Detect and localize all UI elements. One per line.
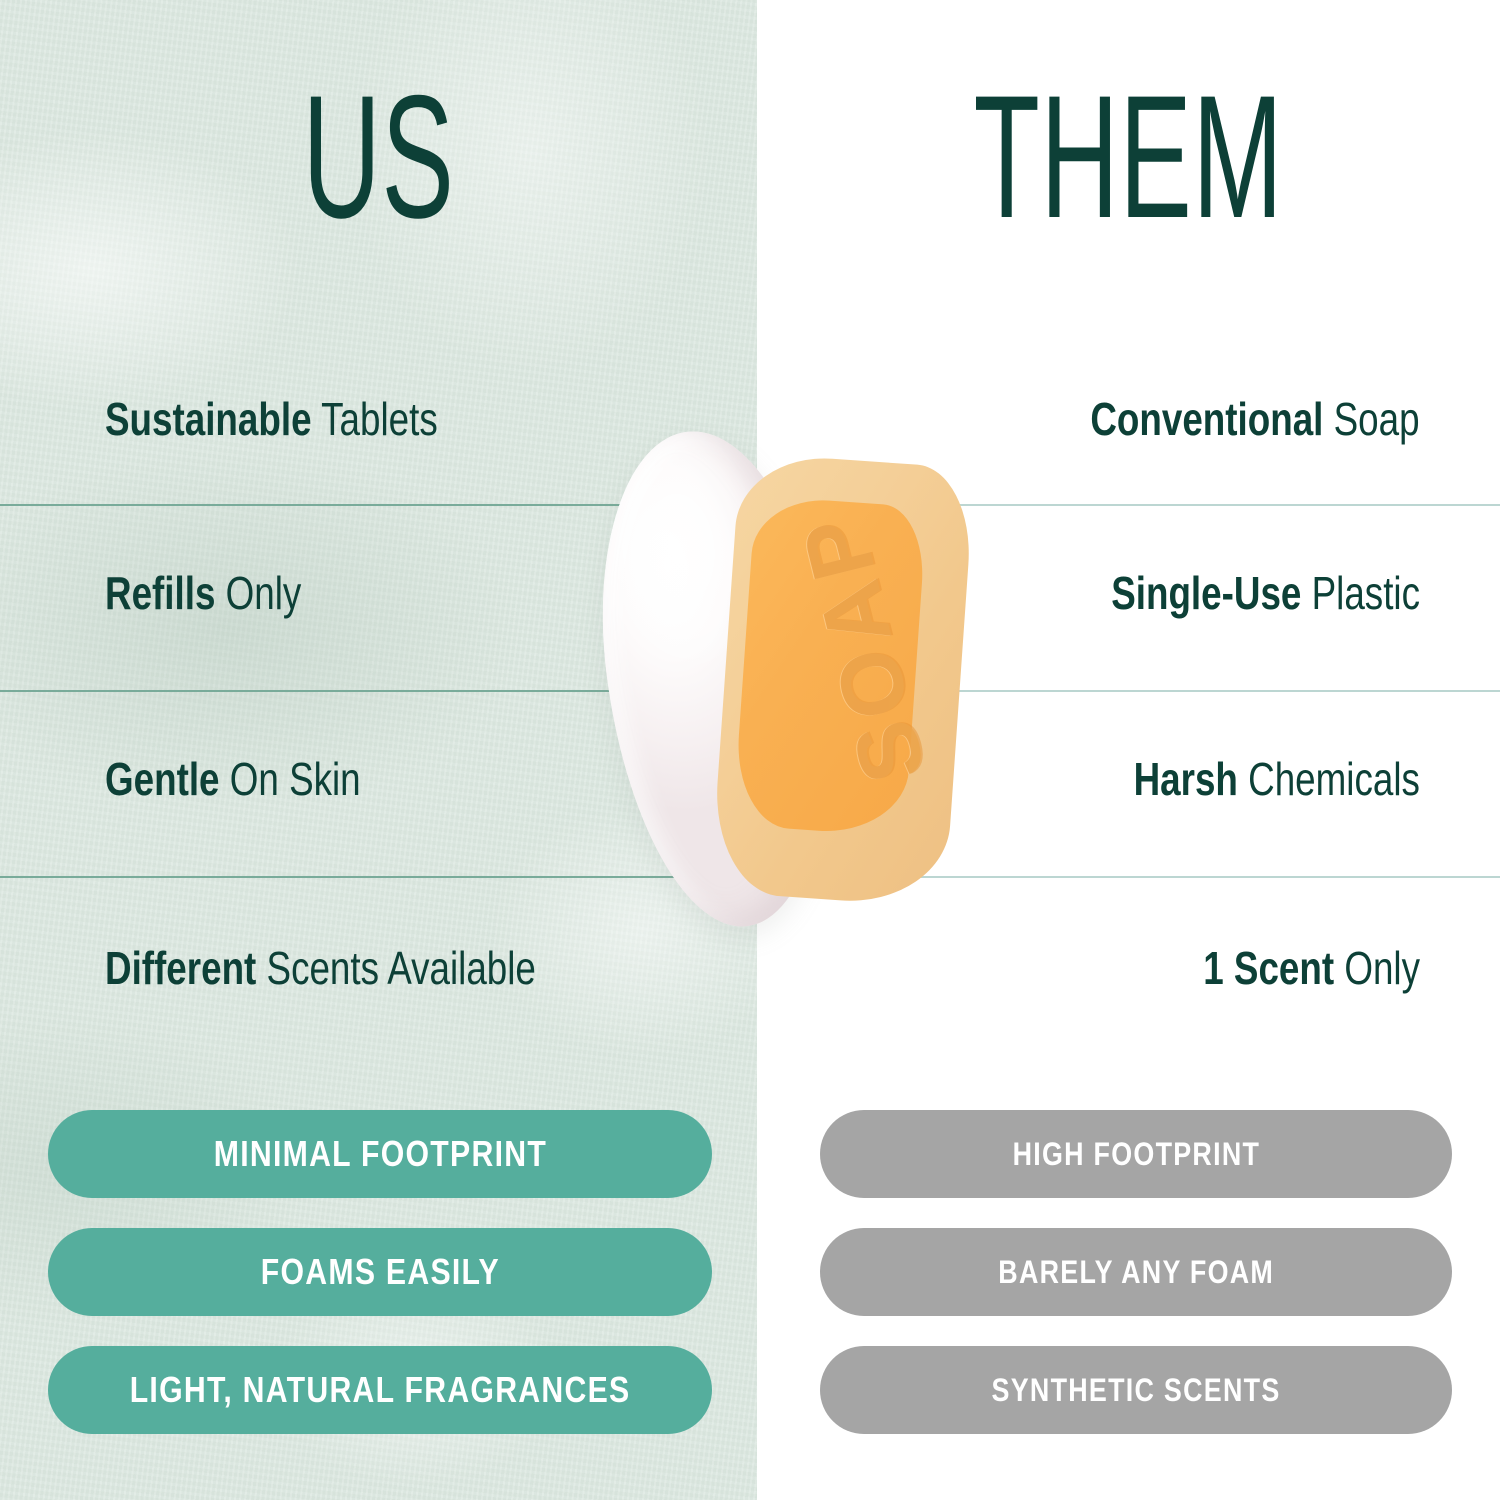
them-feature-4-rest: Only [1334, 942, 1420, 994]
them-feature-1-bold: Conventional [1091, 393, 1324, 445]
them-badge-3-label: SYNTHETIC SCENTS [992, 1374, 1281, 1406]
them-badge-2: BARELY ANY FOAM [820, 1228, 1452, 1316]
us-feature-1-bold: Sustainable [105, 393, 312, 445]
us-feature-2-rest: Only [215, 567, 301, 619]
them-badge-1-label: HIGH FOOTPRINT [1012, 1138, 1260, 1170]
them-feature-2-rest: Plastic [1301, 567, 1420, 619]
row-divider-right-1 [757, 504, 1500, 506]
us-badge-3-label: LIGHT, NATURAL FRAGRANCES [130, 1372, 631, 1408]
them-feature-1-rest: Soap [1324, 393, 1420, 445]
us-feature-2-bold: Refills [105, 567, 215, 619]
them-feature-4-bold: 1 Scent [1203, 942, 1334, 994]
row-divider-left-1 [0, 504, 757, 506]
them-badge-1: HIGH FOOTPRINT [820, 1110, 1452, 1198]
row-divider-left-3 [0, 876, 757, 878]
us-feature-4-rest: Scents Available [256, 942, 536, 994]
them-feature-row-2: Single-Use Plastic [1111, 570, 1420, 616]
them-feature-2-bold: Single-Use [1111, 567, 1301, 619]
us-badge-1: MINIMAL FOOTPRINT [48, 1110, 712, 1198]
them-feature-row-3: Harsh Chemicals [1134, 756, 1420, 802]
them-feature-3-bold: Harsh [1134, 753, 1238, 805]
us-feature-row-4: Different Scents Available [105, 945, 536, 991]
us-badge-2: FOAMS EASILY [48, 1228, 712, 1316]
them-badge-2-label: BARELY ANY FOAM [998, 1256, 1274, 1288]
us-badge-1-label: MINIMAL FOOTPRINT [213, 1136, 546, 1172]
us-feature-row-3: Gentle On Skin [105, 756, 361, 802]
us-feature-3-rest: On Skin [220, 753, 361, 805]
comparison-infographic: US THEM Sustainable Tablets Refills Only… [0, 0, 1500, 1500]
them-feature-3-rest: Chemicals [1238, 753, 1420, 805]
us-feature-3-bold: Gentle [105, 753, 220, 805]
us-feature-row-1: Sustainable Tablets [105, 396, 438, 442]
us-feature-4-bold: Different [105, 942, 256, 994]
us-badge-2-label: FOAMS EASILY [260, 1254, 499, 1290]
them-feature-row-1: Conventional Soap [1091, 396, 1420, 442]
them-heading: THEM [898, 70, 1359, 245]
row-divider-right-2 [757, 690, 1500, 692]
them-badge-3: SYNTHETIC SCENTS [820, 1346, 1452, 1434]
us-heading: US [144, 70, 613, 245]
us-badge-3: LIGHT, NATURAL FRAGRANCES [48, 1346, 712, 1434]
us-feature-row-2: Refills Only [105, 570, 301, 616]
row-divider-right-3 [757, 876, 1500, 878]
them-feature-row-4: 1 Scent Only [1203, 945, 1420, 991]
us-feature-1-rest: Tablets [312, 393, 438, 445]
row-divider-left-2 [0, 690, 757, 692]
